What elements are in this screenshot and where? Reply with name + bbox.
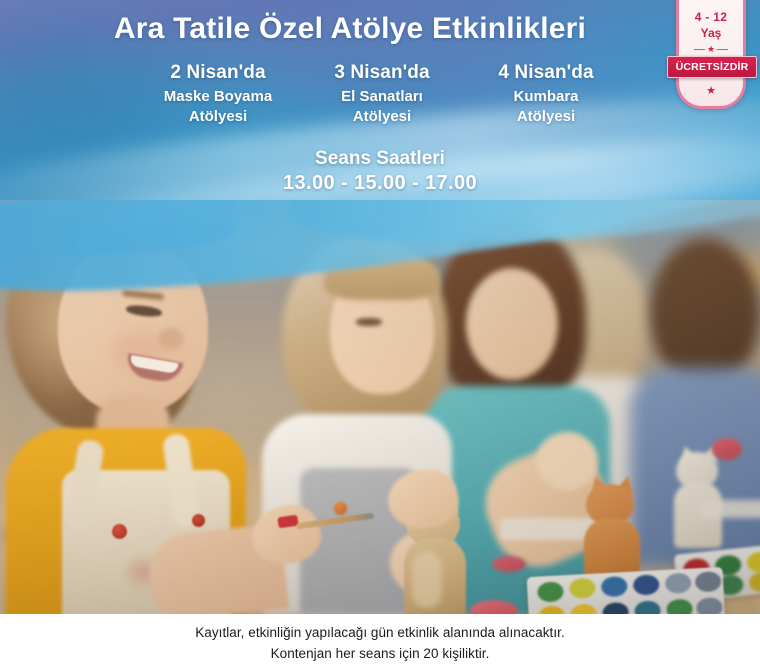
free-label: ÜCRETSİZDİR	[676, 61, 749, 73]
star-icon: ★	[707, 45, 715, 54]
photo-cat-figurine	[412, 552, 442, 608]
poster-root: Ara Tatile Özel Atölye Etkinlikleri 2 Ni…	[0, 0, 760, 665]
paint-pan	[538, 605, 565, 614]
workshop-name-line1: Kumbara	[513, 88, 578, 105]
session-times-value: 13.00 - 15.00 - 17.00	[0, 172, 760, 195]
age-free-badge: 4 - 12 Yaş ★ ÜCRETSİZDİR ★	[676, 0, 746, 109]
photo-child-one	[192, 514, 205, 527]
workshop-name-line2: Atölyesi	[517, 108, 575, 125]
workshop-item-2: 3 Nisan'da El Sanatları Atölyesi	[306, 62, 458, 127]
star-icon: ★	[706, 86, 716, 97]
session-times-label: Seans Saatleri	[0, 148, 760, 170]
paint-pan	[569, 578, 596, 599]
photo-paper	[700, 500, 760, 518]
photo-child-background	[650, 238, 760, 388]
badge-divider: ★	[694, 45, 728, 54]
workshop-name-line2: Atölyesi	[189, 108, 247, 125]
badge-age-range: 4 - 12	[679, 10, 743, 24]
workshop-name-line1: Maske Boyama	[164, 88, 272, 105]
paint-pan	[666, 599, 693, 614]
paint-pan	[696, 597, 723, 614]
paint-pan	[665, 573, 692, 594]
photo-child-two	[356, 318, 382, 326]
photo-clay-piece	[712, 438, 742, 460]
page-title: Ara Tatile Özel Atölye Etkinlikleri	[0, 12, 700, 46]
workshop-name-line1: El Sanatları	[341, 88, 423, 105]
paint-pan	[746, 551, 760, 574]
free-ribbon: ÜCRETSİZDİR	[667, 56, 757, 78]
footer-line-1: Kayıtlar, etkinliğin yapılacağı gün etki…	[0, 623, 760, 644]
badge-age-unit: Yaş	[679, 26, 743, 40]
workshop-item-1: 2 Nisan'da Maske Boyama Atölyesi	[142, 62, 294, 127]
session-times-block: Seans Saatleri 13.00 - 15.00 - 17.00	[0, 148, 760, 195]
photo-child-one	[158, 328, 184, 350]
paint-pan	[695, 571, 722, 592]
footer-note: Kayıtlar, etkinliğin yapılacağı gün etki…	[0, 614, 760, 665]
workshop-name: Maske Boyama Atölyesi	[142, 87, 294, 127]
paint-pan	[634, 600, 661, 614]
photo-clay-piece	[492, 556, 526, 572]
paint-pan	[602, 602, 629, 614]
workshop-date: 3 Nisan'da	[306, 62, 458, 84]
photo-child-three	[466, 268, 558, 380]
workshop-date: 4 Nisan'da	[470, 62, 622, 84]
paint-pan	[570, 604, 597, 614]
workshop-item-3: 4 Nisan'da Kumbara Atölyesi	[470, 62, 622, 127]
workshop-name: Kumbara Atölyesi	[470, 87, 622, 127]
workshop-date: 2 Nisan'da	[142, 62, 294, 84]
photo-child-two	[334, 502, 347, 515]
photo-child-one	[112, 524, 127, 539]
workshop-name: El Sanatları Atölyesi	[306, 87, 458, 127]
paint-pan	[537, 581, 564, 602]
footer-line-2: Kontenjan her seans için 20 kişiliktir.	[0, 644, 760, 665]
workshop-photo	[0, 200, 760, 614]
paint-pan	[748, 571, 760, 594]
workshop-name-line2: Atölyesi	[353, 108, 411, 125]
paint-pan	[633, 574, 660, 595]
paint-pan	[601, 576, 628, 597]
workshop-list: 2 Nisan'da Maske Boyama Atölyesi 3 Nisan…	[142, 62, 622, 127]
